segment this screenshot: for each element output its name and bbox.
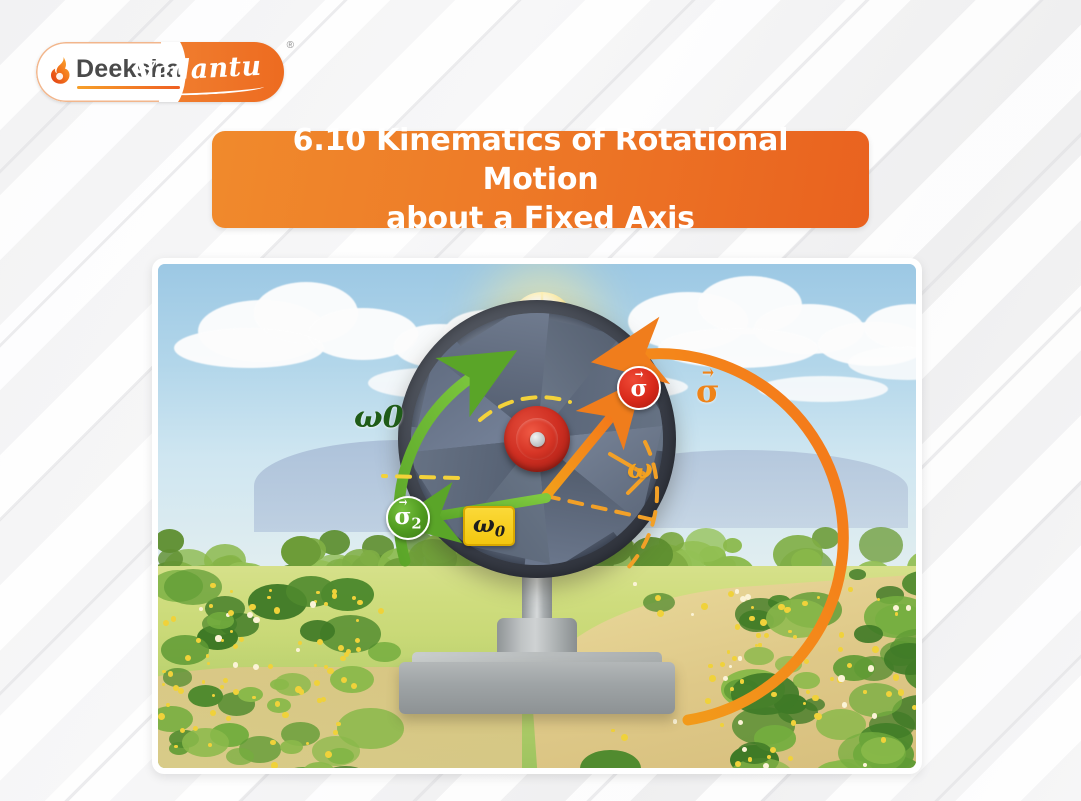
sigma-two-subscript: 2: [411, 516, 421, 533]
orange-curved-arrow: [630, 354, 843, 720]
omega-zero-green-text: ω0: [354, 400, 403, 435]
sigma-vector-red-badge: σ: [617, 366, 661, 410]
vector-overlay: [158, 264, 916, 768]
omega-zero-green-label: ω0: [354, 400, 403, 435]
omega-chip-subscript: 0: [495, 524, 505, 541]
orange-straight-arrow: [546, 406, 620, 496]
sigma-vector-orange-label: σ: [696, 372, 720, 410]
dashed-reference-radius-left: [383, 476, 458, 478]
illustration-card: ω0 σ ω σ σ2 ω0: [152, 258, 922, 774]
omega-zero-yellow-chip: ω0: [463, 506, 515, 546]
sigma-two-text: σ: [394, 505, 411, 528]
page-title-line2: about a Fixed Axis: [386, 201, 695, 236]
flame-icon: [50, 57, 72, 87]
omega-chip-text: ω: [473, 511, 495, 538]
vedantu-wordmark: Vedantu: [135, 51, 263, 89]
sigma-two-green-badge: σ2: [386, 496, 430, 540]
omega-angle-orange-label: ω: [627, 454, 653, 485]
registered-trademark-icon: ®: [287, 40, 294, 51]
illustration-canvas: ω0 σ ω σ σ2 ω0: [158, 264, 916, 768]
brand-logo[interactable]: Deeksha Vedantu ®: [36, 42, 284, 102]
sigma-red-text: σ: [631, 377, 648, 400]
page-title: 6.10 Kinematics of Rotational Motion abo…: [240, 121, 841, 238]
page-title-line1: 6.10 Kinematics of Rotational Motion: [293, 123, 789, 197]
dashed-reference-radius: [546, 496, 663, 522]
slide-title-banner: 6.10 Kinematics of Rotational Motion abo…: [212, 131, 869, 228]
omega-angle-text: ω: [627, 454, 653, 485]
sigma-orange-text: σ: [696, 375, 720, 407]
dashed-arc-upper: [480, 397, 570, 420]
